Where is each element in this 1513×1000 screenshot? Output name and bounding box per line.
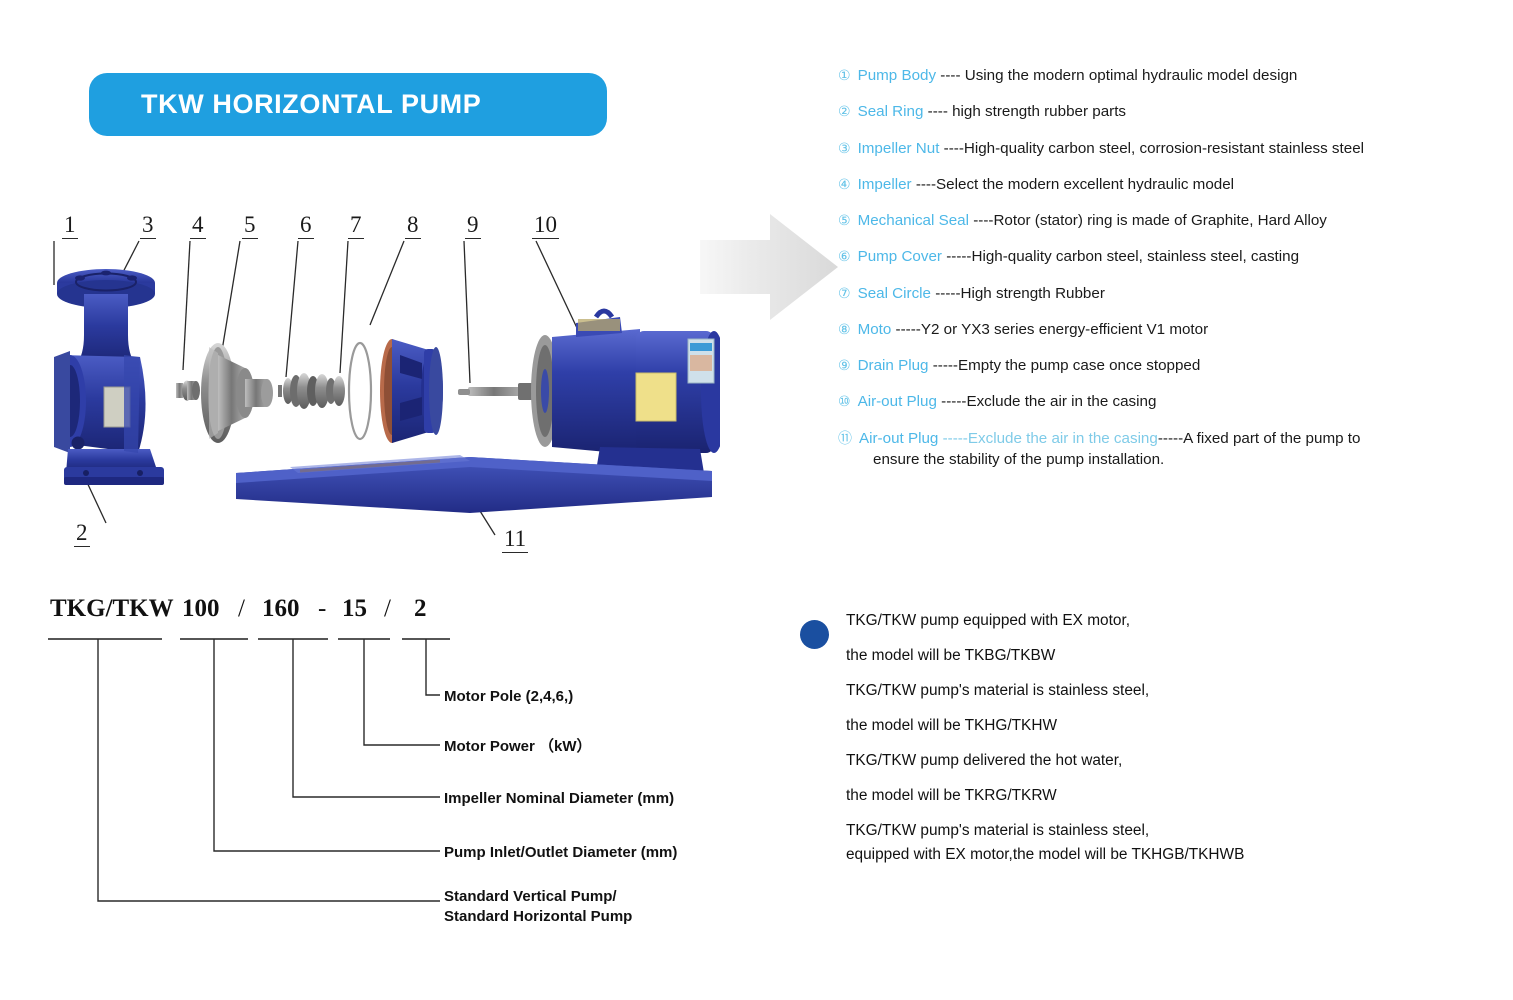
legend-number-8: ⑧	[838, 321, 851, 339]
legend-item-1: ① Pump Body ---- Using the modern optima…	[838, 66, 1498, 86]
legend-number-6: ⑥	[838, 248, 851, 266]
legend-number-3: ③	[838, 140, 851, 158]
callout-6: 6	[298, 213, 314, 239]
legend-sep-1: ----	[936, 67, 965, 84]
legend-label-5: Mechanical Seal	[858, 212, 969, 229]
code-label-inlet-outlet: Pump Inlet/Outlet Diameter (mm)	[444, 843, 677, 863]
note-line-4: the model will be TKHG/TKHW	[846, 717, 1490, 735]
legend-item-6: ⑥ Pump Cover -----High-quality carbon st…	[838, 247, 1498, 267]
right-arrow-icon	[700, 212, 840, 322]
legend-sep-2: ----	[923, 103, 952, 120]
callout-5: 5	[242, 213, 258, 239]
code-label-series-line2: Standard Horizontal Pump	[444, 907, 632, 927]
note-line-2: the model will be TKBG/TKBW	[846, 647, 1490, 665]
legend-label-9: Drain Plug	[858, 357, 929, 374]
legend-desc-10: Exclude the air in the casing	[966, 393, 1156, 410]
bullet-circle-icon	[800, 620, 829, 649]
legend-desc-9: Empty the pump case once stopped	[958, 357, 1200, 374]
page-title: TKW HORIZONTAL PUMP	[141, 89, 481, 120]
legend-label-8: Moto	[858, 321, 892, 338]
legend-label-4: Impeller	[858, 176, 912, 193]
legend-sep-5: ----	[969, 212, 993, 229]
model-code-leader-lines	[40, 595, 740, 970]
legend-item-7: ⑦ Seal Circle -----High strength Rubber	[838, 284, 1498, 304]
callout-10: 10	[532, 213, 559, 239]
model-variant-notes: TKG/TKW pump equipped with EX motor, the…	[800, 612, 1490, 881]
exploded-pump-diagram: 1 3 4 5 6 7 8 9 10 2 11	[40, 205, 720, 565]
legend-sep-6: -----	[942, 248, 972, 265]
legend-desc-11: -----A fixed part of the pump to	[1158, 430, 1361, 447]
legend-label-11: Air-out Plug	[859, 430, 938, 447]
legend-number-11: ⑪	[838, 430, 852, 448]
callout-8: 8	[405, 213, 421, 239]
flow-arrow-container	[700, 212, 840, 322]
legend-item-2: ② Seal Ring ---- high strength rubber pa…	[838, 102, 1498, 122]
code-label-motor-pole: Motor Pole (2,4,6,)	[444, 687, 573, 707]
note-line-1: TKG/TKW pump equipped with EX motor,	[846, 612, 1490, 630]
legend-item-11: ⑪ Air-out Plug -----Exclude the air in t…	[838, 429, 1498, 471]
legend-desc-4: Select the modern excellent hydraulic mo…	[936, 176, 1234, 193]
legend-item-4: ④ Impeller ----Select the modern excelle…	[838, 175, 1498, 195]
legend-number-1: ①	[838, 67, 851, 85]
legend-sep-11: -----	[938, 430, 968, 447]
model-code-breakdown: TKG/TKW 100 / 160 - 15 / 2 Motor Pole (2…	[40, 595, 740, 970]
legend-desc-1: Using the modern optimal hydraulic model…	[965, 67, 1298, 84]
parts-legend-list: ① Pump Body ---- Using the modern optima…	[838, 66, 1498, 487]
legend-desc-8: Y2 or YX3 series energy-efficient V1 mot…	[921, 321, 1208, 338]
page-title-banner: TKW HORIZONTAL PUMP	[89, 73, 607, 136]
legend-item-8: ⑧ Moto -----Y2 or YX3 series energy-effi…	[838, 320, 1498, 340]
code-label-series-line1: Standard Vertical Pump/	[444, 887, 617, 907]
note-line-5: TKG/TKW pump delivered the hot water,	[846, 752, 1490, 770]
callout-3: 3	[140, 213, 156, 239]
callout-4: 4	[190, 213, 206, 239]
legend-number-9: ⑨	[838, 357, 851, 375]
legend-desc-5: Rotor (stator) ring is made of Graphite,…	[993, 212, 1326, 229]
callout-9: 9	[465, 213, 481, 239]
legend-sep-3: ----	[939, 140, 963, 157]
pump-illustration	[40, 205, 720, 565]
note-line-7: TKG/TKW pump's material is stainless ste…	[846, 822, 1490, 840]
code-label-motor-power: Motor Power （kW）	[444, 737, 592, 757]
legend-desc-2: high strength rubber parts	[952, 103, 1126, 120]
legend-sep-10: -----	[937, 393, 967, 410]
legend-label-10: Air-out Plug	[858, 393, 937, 410]
legend-item-3: ③ Impeller Nut ----High-quality carbon s…	[838, 139, 1498, 159]
legend-item-10: ⑩ Air-out Plug -----Exclude the air in t…	[838, 392, 1498, 412]
legend-desc-3: High-quality carbon steel, corrosion-res…	[964, 140, 1364, 157]
legend-number-7: ⑦	[838, 285, 851, 303]
legend-number-10: ⑩	[838, 393, 851, 411]
legend-item-5: ⑤ Mechanical Seal ----Rotor (stator) rin…	[838, 211, 1498, 231]
callout-1: 1	[62, 213, 78, 239]
legend-sep-8: -----	[891, 321, 921, 338]
legend-sep-9: -----	[928, 357, 958, 374]
legend-desc-11-line2: ensure the stability of the pump install…	[873, 450, 1498, 470]
legend-number-4: ④	[838, 176, 851, 194]
legend-label-2: Seal Ring	[858, 103, 924, 120]
legend-desc-blue-11: Exclude the air in the casing	[968, 430, 1158, 447]
legend-number-5: ⑤	[838, 212, 851, 230]
code-label-impeller-dia: Impeller Nominal Diameter (mm)	[444, 789, 674, 809]
legend-sep-7: -----	[931, 285, 961, 302]
note-line-6: the model will be TKRG/TKRW	[846, 787, 1490, 805]
callout-7: 7	[348, 213, 364, 239]
note-line-3: TKG/TKW pump's material is stainless ste…	[846, 682, 1490, 700]
legend-label-6: Pump Cover	[858, 248, 942, 265]
legend-label-1: Pump Body	[858, 67, 937, 84]
note-line-8: equipped with EX motor,the model will be…	[846, 846, 1490, 864]
legend-sep-4: ----	[912, 176, 936, 193]
legend-number-2: ②	[838, 103, 851, 121]
legend-desc-7: High strength Rubber	[961, 285, 1105, 302]
legend-item-9: ⑨ Drain Plug -----Empty the pump case on…	[838, 356, 1498, 376]
callout-11: 11	[502, 527, 528, 553]
legend-label-3: Impeller Nut	[858, 140, 940, 157]
legend-desc-6: High-quality carbon steel, stainless ste…	[972, 248, 1300, 265]
legend-label-7: Seal Circle	[858, 285, 931, 302]
callout-2: 2	[74, 521, 90, 547]
